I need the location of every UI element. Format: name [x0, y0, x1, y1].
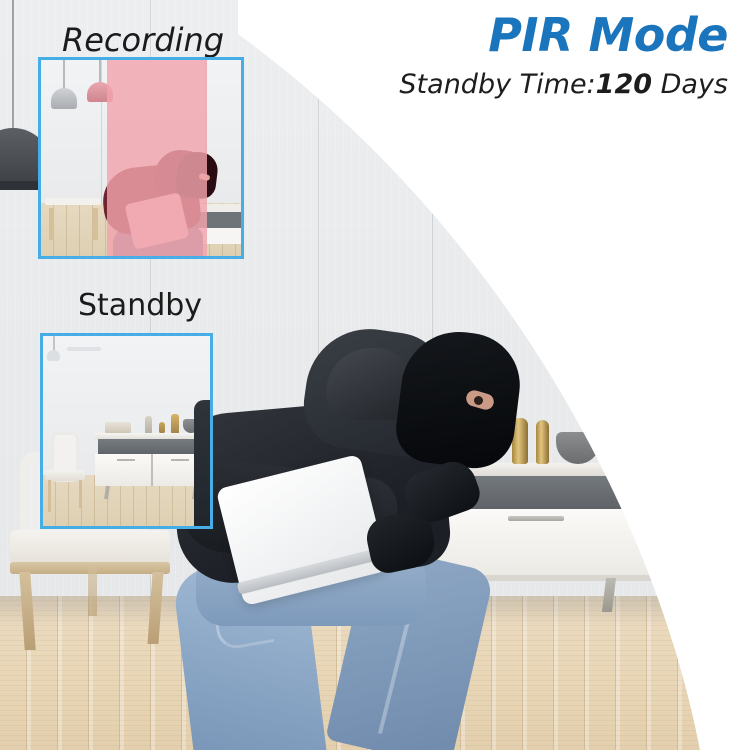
standby-time-label: Standby Time:	[399, 69, 595, 100]
thumb-ceiling-light-bar	[67, 347, 101, 351]
standby-time-unit: Days	[652, 69, 728, 100]
thumb-vase-decor	[145, 416, 152, 434]
thumb-table-leg	[49, 208, 54, 240]
burglar-eye	[474, 396, 483, 405]
thumb-books-decor	[105, 422, 131, 433]
thumb-table-leg	[93, 208, 98, 240]
recording-thumbnail[interactable]	[38, 57, 244, 259]
standby-thumbnail[interactable]	[40, 333, 213, 529]
standby-label: Standby	[78, 288, 202, 323]
burglar-figure	[150, 318, 570, 750]
thumb-gold-vase-decor	[171, 414, 179, 434]
recording-label: Recording	[62, 21, 224, 59]
page-title: PIR Mode	[399, 12, 728, 60]
thumb-pendant-lamp-icon	[47, 350, 60, 361]
thumb-drawer-handle	[171, 459, 189, 461]
motion-detection-overlay	[107, 60, 207, 256]
thumb-edge-figure	[194, 400, 210, 526]
recording-scene	[41, 60, 241, 256]
chair-leg	[88, 566, 97, 616]
thumb-lamp-cord	[99, 60, 101, 84]
headline-block: PIR Mode Standby Time:120 Days	[399, 12, 728, 100]
thumb-side-table	[45, 198, 101, 205]
thumb-drawer-handle	[117, 459, 135, 461]
sideboard-drawer-divider	[660, 509, 662, 575]
thumb-sideboard-divider	[151, 454, 153, 486]
thumb-sideboard-shelf	[98, 439, 204, 454]
pendant-lamp-cord	[12, 0, 14, 132]
thumb-chair-leg	[79, 480, 82, 508]
thumb-chair-leg	[48, 480, 51, 512]
thumb-lamp-cord	[63, 60, 65, 90]
standby-scene	[43, 336, 210, 526]
chair-seat	[10, 530, 170, 564]
banner-canvas: PIR Mode Standby Time:120 Days Recording	[0, 0, 750, 750]
standby-time-line: Standby Time:120 Days	[399, 69, 728, 100]
standby-time-value: 120	[596, 69, 652, 100]
thumb-pendant-lamp-icon	[51, 88, 77, 109]
